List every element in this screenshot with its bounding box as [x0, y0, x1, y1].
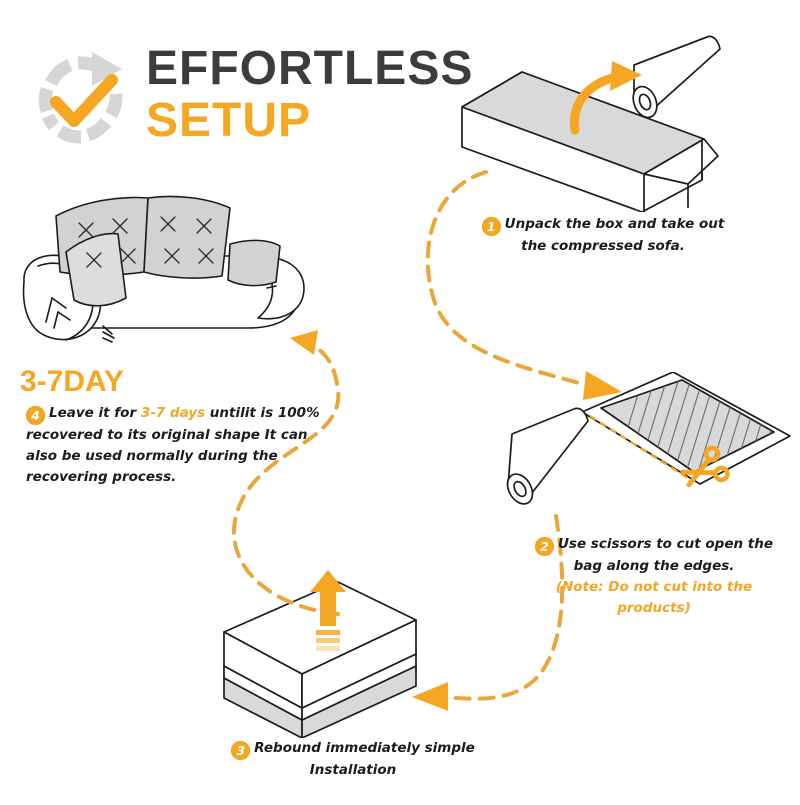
- step-3-label: Rebound immediately simple Installation: [254, 740, 475, 778]
- step-4-text: 4Leave it for 3-7 days untilit is 100% r…: [26, 403, 336, 488]
- page-title: EFFORTLESS SETUP: [146, 44, 473, 148]
- title-line-2: SETUP: [146, 94, 473, 148]
- illustration-foam-cushion-block: [206, 570, 446, 738]
- title-line-1: EFFORTLESS: [146, 44, 473, 94]
- illustration-open-box-with-rolled-sofa: [452, 32, 752, 212]
- illustration-assembled-sofa: [8, 176, 318, 366]
- circular-arrow-check-icon: [26, 44, 138, 156]
- step-4-label-before: Leave it for: [49, 405, 141, 421]
- infographic-canvas: EFFORTLESS SETUP: [0, 0, 800, 800]
- step-2-label: Use scissors to cut open the bag along t…: [558, 536, 773, 574]
- step-1-label: Unpack the box and take out the compress…: [505, 216, 725, 254]
- header: EFFORTLESS SETUP: [26, 40, 446, 160]
- step-2-badge: 2: [535, 537, 554, 556]
- step-3-text: 3Rebound immediately simple Installation: [222, 738, 484, 781]
- step-2-note: (Note: Do not cut into the products): [520, 577, 788, 619]
- step-4-badge: 4: [26, 406, 45, 425]
- step-2-text: 2Use scissors to cut open the bag along …: [520, 534, 788, 619]
- step-1-text: 1Unpack the box and take out the compres…: [478, 214, 728, 257]
- step-1-badge: 1: [482, 217, 501, 236]
- step-3-badge: 3: [231, 741, 250, 760]
- illustration-vacuum-bag-with-scissors: [498, 372, 798, 542]
- recovery-day-label: 3-7DAY: [20, 365, 124, 399]
- step-4-highlight: 3-7 days: [141, 405, 205, 421]
